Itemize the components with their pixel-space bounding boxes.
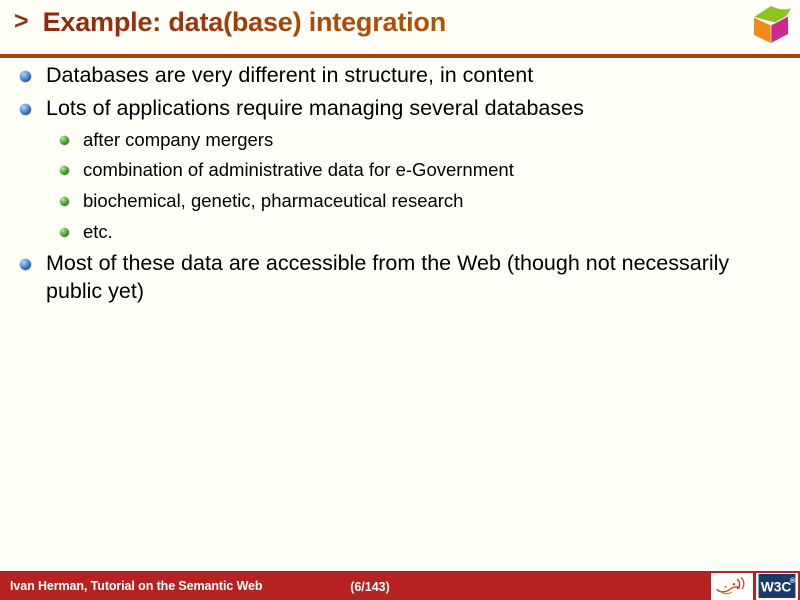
list-item: Databases are very different in structur…	[0, 62, 780, 90]
blue-bullet-icon	[20, 104, 31, 115]
w3c-cube-logo-icon	[748, 2, 796, 46]
list-item: biochemical, genetic, pharmaceutical res…	[0, 189, 800, 214]
green-bullet-icon	[60, 166, 69, 175]
page-title: Example: data(base) integration	[43, 8, 446, 38]
svg-text:®: ®	[790, 576, 796, 585]
list-item-label: Lots of applications require managing se…	[46, 96, 584, 120]
w3c-logo-icon: W3C ®	[756, 573, 798, 600]
footer-page-number: (6/143)	[0, 580, 800, 594]
footer-logos: W3C ®	[711, 572, 798, 600]
list-item: etc.	[0, 220, 800, 245]
slide: > Example: data(base) integration Databa…	[0, 0, 800, 600]
w3c-logo-label: W3C	[761, 579, 792, 595]
slide-content: Databases are very different in structur…	[0, 62, 800, 557]
blue-bullet-icon	[20, 71, 31, 82]
arabic-calligraphy-logo-icon	[711, 573, 753, 600]
bullet-list: Databases are very different in structur…	[0, 62, 800, 306]
list-item: combination of administrative data for e…	[0, 158, 800, 183]
list-item-label: after company mergers	[83, 129, 273, 150]
list-item-label: biochemical, genetic, pharmaceutical res…	[83, 190, 463, 211]
sub-bullet-list: after company mergers combination of adm…	[0, 128, 800, 244]
green-bullet-icon	[60, 197, 69, 206]
header-divider	[0, 54, 800, 58]
sub-list-container: after company mergers combination of adm…	[0, 128, 800, 244]
blue-bullet-icon	[20, 259, 31, 270]
list-item-label: Databases are very different in structur…	[46, 63, 533, 87]
list-item-label: etc.	[83, 221, 113, 242]
slide-header: > Example: data(base) integration	[0, 0, 800, 58]
title-row: > Example: data(base) integration	[14, 8, 446, 38]
title-marker-icon: >	[14, 9, 29, 34]
list-item: after company mergers	[0, 128, 800, 153]
green-bullet-icon	[60, 136, 69, 145]
list-item-label: Most of these data are accessible from t…	[46, 251, 729, 303]
list-item: Lots of applications require managing se…	[0, 95, 780, 123]
green-bullet-icon	[60, 228, 69, 237]
list-item-label: combination of administrative data for e…	[83, 159, 514, 180]
list-item: Most of these data are accessible from t…	[0, 250, 780, 306]
slide-footer: Ivan Herman, Tutorial on the Semantic We…	[0, 568, 800, 600]
